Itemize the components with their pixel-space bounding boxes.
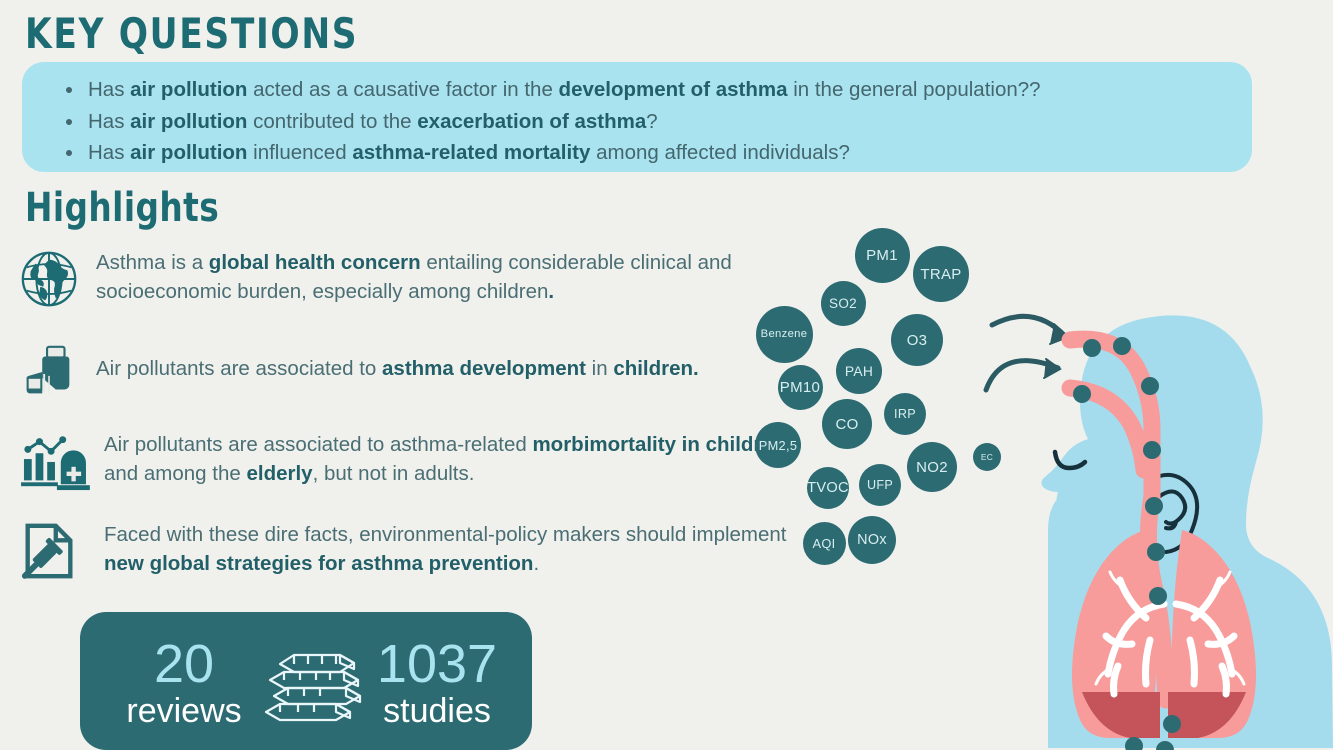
inhalation-arrows <box>986 316 1068 390</box>
key-question-item: Has air pollution acted as a causative f… <box>66 74 1252 106</box>
pollutant-bubble: AQI <box>803 522 846 565</box>
stat-reviews: 20 reviews <box>104 636 264 730</box>
studies-label: studies <box>352 692 522 730</box>
stats-banner: 20 reviews <box>80 612 532 750</box>
pollutant-bubble: Benzene <box>756 306 813 363</box>
key-question-item: Has air pollution contributed to the exa… <box>66 106 1252 138</box>
highlight-text: Air pollutants are associated to asthma … <box>96 354 796 383</box>
highlight-text: Air pollutants are associated to asthma-… <box>104 430 804 488</box>
graphical-abstract: KEY QUESTIONS Has air pollution acted as… <box>0 0 1333 750</box>
key-questions-box: Has air pollution acted as a causative f… <box>22 62 1252 172</box>
highlight-text: Asthma is a global health concern entail… <box>96 248 796 306</box>
highlight-text: Faced with these dire facts, environment… <box>104 520 804 578</box>
pollutant-bubble: TVOC <box>807 467 849 509</box>
highlights-title: Highlights <box>25 186 219 230</box>
pollutant-bubble: PM2,5 <box>755 422 801 468</box>
key-question-item: Has air pollution influenced asthma-rela… <box>66 137 1252 169</box>
inhaler-icon <box>18 342 80 404</box>
mortality-chart-icon <box>18 430 90 492</box>
policy-document-gavel-icon <box>18 520 80 582</box>
human-respiratory-system-illustration <box>860 200 1333 750</box>
stat-studies: 1037 studies <box>352 636 522 730</box>
reviews-label: reviews <box>104 692 264 730</box>
globe-icon <box>18 248 80 310</box>
reviews-count: 20 <box>104 636 264 692</box>
key-questions-title: KEY QUESTIONS <box>25 12 358 56</box>
studies-count: 1037 <box>352 636 522 692</box>
pollutant-bubble: SO2 <box>821 281 866 326</box>
pollutant-bubble: PM10 <box>778 365 823 410</box>
key-questions-list: Has air pollution acted as a causative f… <box>22 62 1252 169</box>
